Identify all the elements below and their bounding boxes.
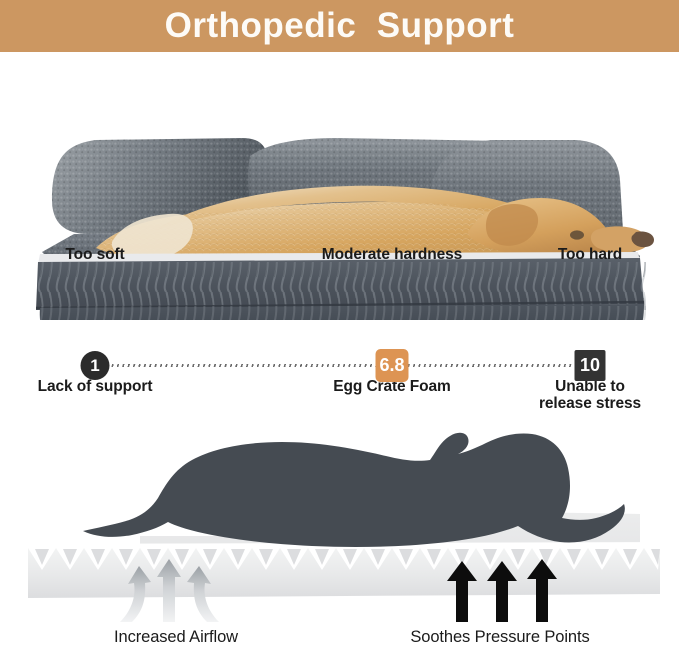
scale-label-too-hard: Too hard xyxy=(558,246,622,264)
page-title: Orthopedic Support xyxy=(165,8,515,43)
scale-label-too-soft: Too soft xyxy=(65,246,124,264)
scale-label-moderate-hardness: Moderate hardness xyxy=(322,246,462,264)
header-banner: Orthopedic Support xyxy=(0,0,679,52)
scale-badge-1: 1 xyxy=(81,351,110,380)
pressure-arrows xyxy=(447,559,557,622)
hardness-scale: Too soft 1 Lack of support Moderate hard… xyxy=(0,322,679,422)
product-photo xyxy=(0,52,679,320)
scale-sublabel-lack-of-support: Lack of support xyxy=(38,378,153,395)
unable-line-2: release stress xyxy=(539,395,641,412)
caption-increased-airflow: Increased Airflow xyxy=(114,628,238,647)
airflow-pressure-illustration xyxy=(0,418,679,622)
caption-soothes-pressure-points: Soothes Pressure Points xyxy=(410,628,589,647)
scale-dashed-line xyxy=(96,364,588,367)
diagram-captions: Increased Airflow Soothes Pressure Point… xyxy=(0,628,679,660)
scale-sublabel-unable-to-release-stress: Unable to release stress xyxy=(539,378,641,413)
foam-cross-section-diagram xyxy=(0,418,679,622)
dog-silhouette xyxy=(83,433,625,547)
scale-badge-68: 6.8 xyxy=(376,349,409,382)
infographic-page: Orthopedic Support xyxy=(0,0,679,660)
scale-badge-10: 10 xyxy=(575,350,606,381)
dog-bed-illustration xyxy=(0,52,679,320)
